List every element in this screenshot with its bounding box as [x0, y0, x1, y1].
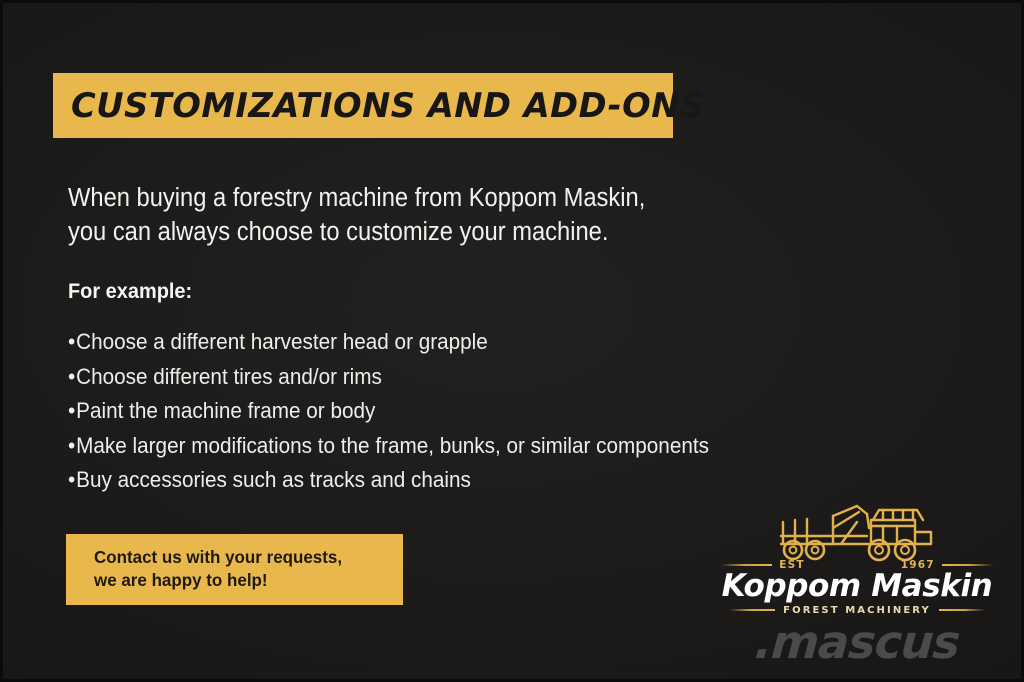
list-item-label: Buy accessories such as tracks and chain…: [76, 467, 471, 492]
list-item-label: Make larger modifications to the frame, …: [76, 433, 709, 458]
bullet-dot-icon: •: [68, 360, 75, 395]
koppom-maskin-logo: EST 1967 Koppom Maskin FOREST MACHINERY: [721, 500, 993, 618]
intro-line-1: When buying a forestry machine from Kopp…: [68, 181, 719, 215]
logo-rule-right: [942, 564, 993, 566]
title-banner: CUSTOMIZATIONS AND ADD-ONS: [53, 73, 673, 138]
list-item: •Make larger modifications to the frame,…: [68, 429, 767, 464]
list-item: •Choose different tires and/or rims: [68, 360, 767, 395]
tagline-rule-left: [729, 609, 775, 611]
bullet-dot-icon: •: [68, 463, 75, 498]
contact-cta-line-2: we are happy to help!: [94, 569, 394, 592]
bullet-dot-icon: •: [68, 429, 75, 464]
customization-list: •Choose a different harvester head or gr…: [68, 325, 828, 498]
forwarder-machine-icon: [771, 500, 951, 562]
contact-cta-box[interactable]: Contact us with your requests, we are ha…: [66, 534, 403, 605]
bullet-dot-icon: •: [68, 394, 75, 429]
bullet-dot-icon: •: [68, 325, 75, 360]
contact-cta-line-1: Contact us with your requests,: [94, 546, 394, 569]
page-title: CUSTOMIZATIONS AND ADD-ONS: [71, 86, 705, 126]
list-item-label: Choose a different harvester head or gra…: [76, 329, 488, 354]
mascus-watermark: .mascus: [753, 615, 961, 669]
list-item-label: Choose different tires and/or rims: [76, 364, 382, 389]
tagline-rule-right: [939, 609, 985, 611]
for-example-label: For example:: [68, 280, 192, 304]
list-item-label: Paint the machine frame or body: [76, 398, 375, 423]
logo-rule-left: [721, 564, 772, 566]
list-item: •Paint the machine frame or body: [68, 394, 767, 429]
list-item: •Buy accessories such as tracks and chai…: [68, 463, 767, 498]
intro-paragraph: When buying a forestry machine from Kopp…: [68, 181, 719, 249]
logo-company-name: Koppom Maskin: [721, 568, 993, 604]
intro-line-2: you can always choose to customize your …: [68, 215, 719, 249]
promo-slide: CUSTOMIZATIONS AND ADD-ONS When buying a…: [0, 0, 1024, 682]
list-item: •Choose a different harvester head or gr…: [68, 325, 767, 360]
logo-tagline: FOREST MACHINERY: [783, 605, 931, 616]
